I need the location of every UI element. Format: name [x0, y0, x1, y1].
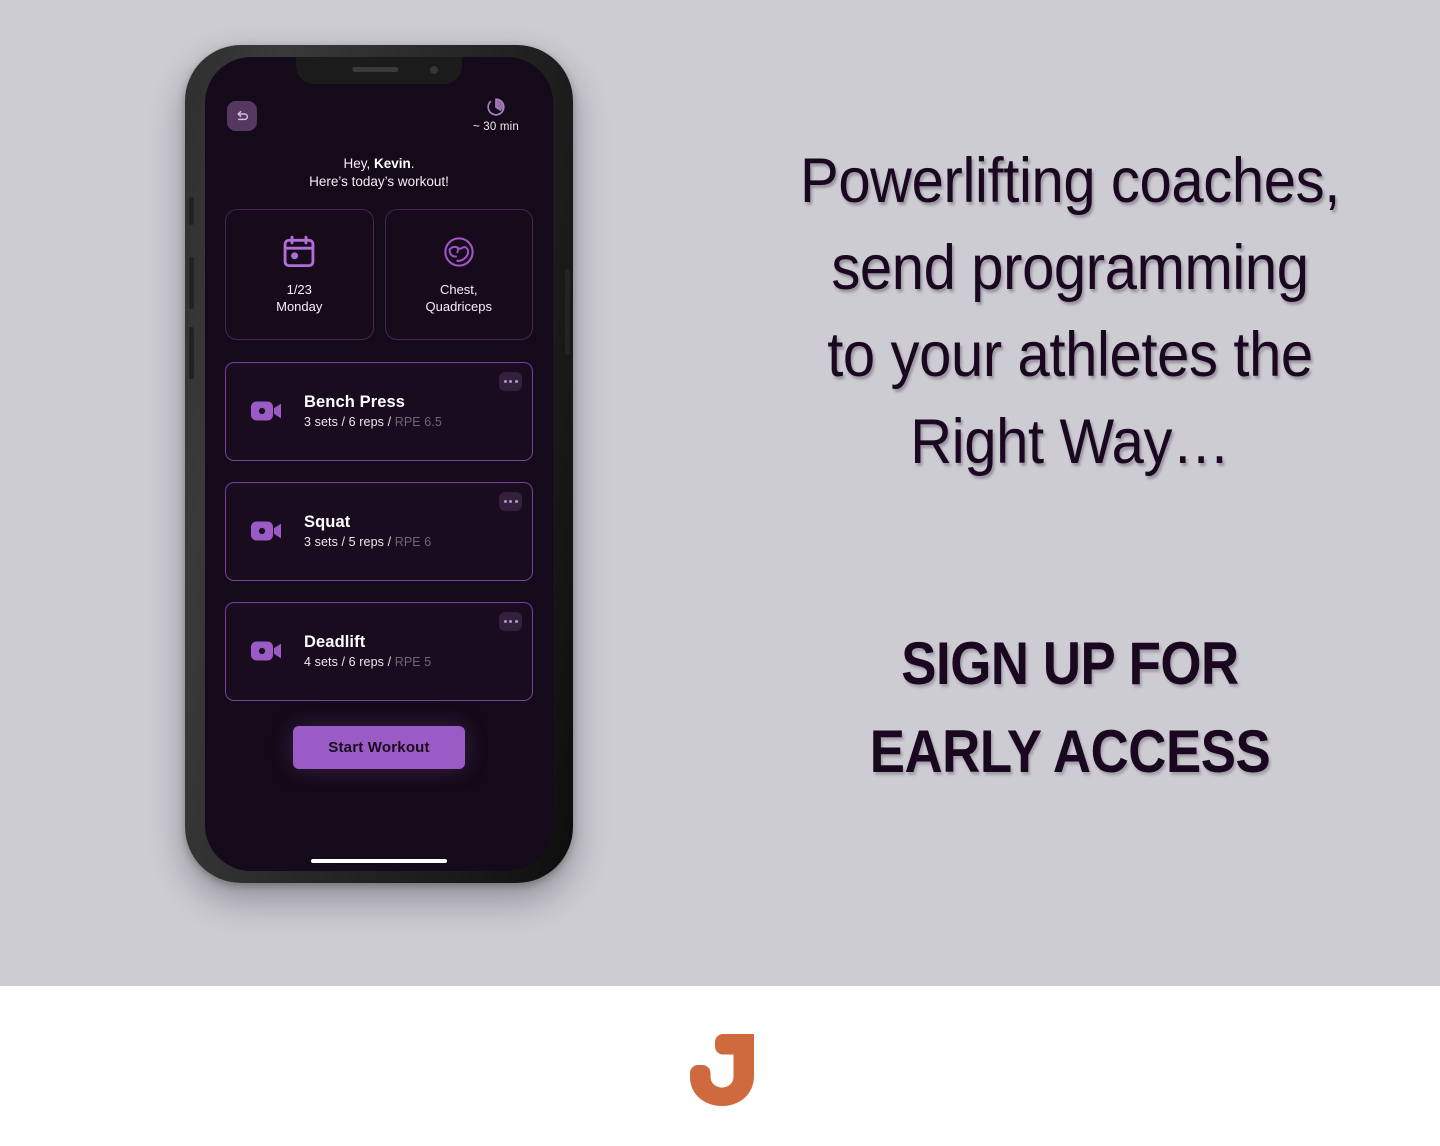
exercise-text: Bench Press 3 sets / 6 reps / RPE 6.5: [304, 393, 442, 429]
phone-body: ~ 30 min Hey, Kevin. Here’s today’s work…: [185, 45, 573, 883]
cta-line-1: SIGN UP FOR: [784, 620, 1356, 708]
start-workout-button[interactable]: Start Workout: [293, 726, 465, 769]
phone-mockup: ~ 30 min Hey, Kevin. Here’s today’s work…: [175, 45, 580, 885]
more-options-icon[interactable]: [499, 612, 522, 631]
workout-app-screen: ~ 30 min Hey, Kevin. Here’s today’s work…: [205, 57, 553, 871]
date-info-card[interactable]: 1/23 Monday: [225, 209, 374, 340]
duration-label: ~ 30 min: [459, 121, 533, 133]
cta-text: SIGN UP FOR EARLY ACCESS: [784, 620, 1356, 795]
greeting-user-name: Kevin: [374, 156, 411, 171]
date-line-2: Monday: [276, 298, 322, 315]
ad-canvas: ~ 30 min Hey, Kevin. Here’s today’s work…: [0, 0, 1440, 1146]
phone-power-button[interactable]: [565, 269, 570, 355]
exercise-name: Deadlift: [304, 633, 431, 652]
exercise-card-bench-press[interactable]: Bench Press 3 sets / 6 reps / RPE 6.5: [225, 362, 533, 461]
app-topbar: ~ 30 min: [225, 93, 533, 151]
muscle-line-2: Quadriceps: [426, 298, 492, 315]
video-camera-icon[interactable]: [250, 518, 284, 544]
exercise-text: Squat 3 sets / 5 reps / RPE 6: [304, 513, 431, 549]
exercise-rpe: RPE 6.5: [395, 415, 442, 429]
headline-line-1: Powerlifting coaches,: [771, 138, 1369, 225]
video-camera-icon[interactable]: [250, 638, 284, 664]
headline: Powerlifting coaches, send programming t…: [771, 138, 1369, 486]
greeting-subtitle: Here’s today’s workout!: [225, 173, 533, 191]
exercise-rpe: RPE 5: [395, 655, 432, 669]
more-options-icon[interactable]: [499, 492, 522, 511]
copy-column: Powerlifting coaches, send programming t…: [745, 0, 1395, 986]
exercise-name: Bench Press: [304, 393, 442, 412]
exercise-scheme: 3 sets / 5 reps /: [304, 535, 395, 549]
phone-mute-switch[interactable]: [189, 197, 194, 225]
more-options-icon[interactable]: [499, 372, 522, 391]
calendar-icon: [280, 233, 318, 271]
exercise-name: Squat: [304, 513, 431, 532]
greeting-line: Hey, Kevin.: [225, 155, 533, 173]
video-camera-icon[interactable]: [250, 398, 284, 424]
exercise-scheme: 3 sets / 6 reps /: [304, 415, 395, 429]
j-logo: [668, 1014, 772, 1118]
phone-volume-down-button[interactable]: [189, 327, 194, 379]
muscle-icon: [440, 233, 478, 271]
front-camera-icon: [430, 66, 438, 74]
back-arrow-icon: [234, 108, 250, 124]
headline-line-4: Right Way…: [771, 399, 1369, 486]
phone-screen: ~ 30 min Hey, Kevin. Here’s today’s work…: [205, 57, 553, 871]
date-info-label: 1/23 Monday: [276, 281, 322, 316]
exercise-detail: 3 sets / 5 reps / RPE 6: [304, 535, 431, 549]
exercise-detail: 3 sets / 6 reps / RPE 6.5: [304, 415, 442, 429]
footer: [0, 986, 1440, 1146]
exercise-card-deadlift[interactable]: Deadlift 4 sets / 6 reps / RPE 5: [225, 602, 533, 701]
greeting-suffix: .: [411, 156, 415, 171]
date-line-1: 1/23: [276, 281, 322, 298]
exercise-detail: 4 sets / 6 reps / RPE 5: [304, 655, 431, 669]
exercise-scheme: 4 sets / 6 reps /: [304, 655, 395, 669]
muscle-group-info-card[interactable]: Chest, Quadriceps: [385, 209, 534, 340]
phone-notch: [296, 57, 462, 84]
exercise-list: Bench Press 3 sets / 6 reps / RPE 6.5: [225, 362, 533, 701]
headline-line-3: to your athletes the: [771, 312, 1369, 399]
muscle-line-1: Chest,: [426, 281, 492, 298]
cta-line-2: EARLY ACCESS: [784, 708, 1356, 796]
phone-volume-up-button[interactable]: [189, 257, 194, 309]
muscle-group-label: Chest, Quadriceps: [426, 281, 492, 316]
workout-duration: ~ 30 min: [459, 95, 533, 133]
exercise-text: Deadlift 4 sets / 6 reps / RPE 5: [304, 633, 431, 669]
exercise-rpe: RPE 6: [395, 535, 432, 549]
workout-info-cards: 1/23 Monday C: [225, 209, 533, 340]
exercise-card-squat[interactable]: Squat 3 sets / 5 reps / RPE 6: [225, 482, 533, 581]
greeting-block: Hey, Kevin. Here’s today’s workout!: [225, 155, 533, 192]
home-indicator[interactable]: [311, 859, 447, 863]
earpiece-speaker: [352, 67, 398, 72]
stopwatch-icon: [484, 95, 508, 119]
greeting-prefix: Hey,: [343, 156, 374, 171]
back-button[interactable]: [227, 101, 257, 131]
headline-line-2: send programming: [771, 225, 1369, 312]
